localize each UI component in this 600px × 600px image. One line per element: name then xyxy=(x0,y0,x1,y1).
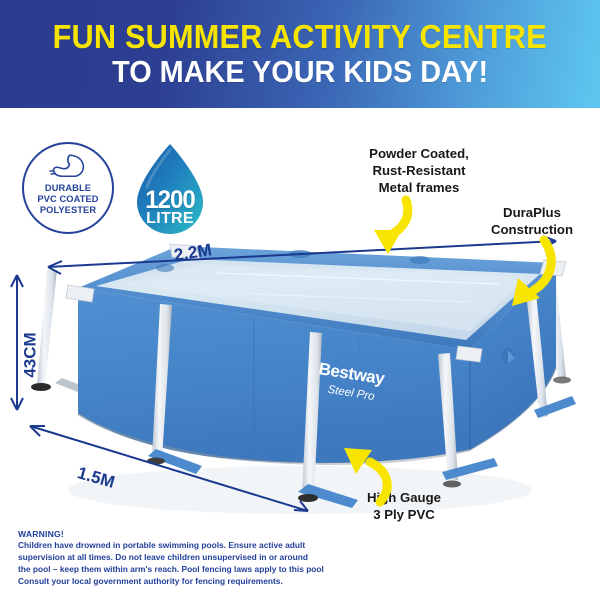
badge-durable-line-2: PVC COATED xyxy=(37,194,98,204)
warning-line-1: Children have drowned in portable swimmi… xyxy=(18,540,305,550)
warning-block: WARNING! Children have drowned in portab… xyxy=(18,529,348,588)
badge-durable-line-3: POLYESTER xyxy=(40,205,96,215)
warning-line-3: the pool – keep them within arm's reach.… xyxy=(18,564,324,574)
pool-valve-detail xyxy=(501,348,515,364)
warning-line-4: Consult your local government authority … xyxy=(18,576,283,586)
badge-durable-text: DURABLE PVC COATED POLYESTER xyxy=(37,183,98,216)
badge-capacity-litre: 1200 LITRE xyxy=(127,140,213,240)
badge-durable-line-1: DURABLE xyxy=(45,183,91,193)
curved-arrow-down-icon xyxy=(352,196,422,262)
page-title-line-2: TO MAKE YOUR KIDS DAY! xyxy=(112,56,488,89)
warning-heading: WARNING! xyxy=(18,529,348,539)
warning-body: Children have drowned in portable swimmi… xyxy=(18,540,348,588)
warning-line-2: supervision at all times. Do not leave c… xyxy=(18,552,308,562)
dimension-label-height: 43CM xyxy=(21,332,41,377)
callout-powder-line-2: Rust-Resistant xyxy=(372,163,465,178)
badge-durable-pvc: DURABLE PVC COATED POLYESTER xyxy=(22,142,114,234)
badge-capacity-unit: LITRE xyxy=(127,210,213,228)
callout-duraplus: DuraPlus Construction xyxy=(470,205,594,239)
callout-powder-coated: Powder Coated, Rust-Resistant Metal fram… xyxy=(334,146,504,197)
callout-powder-line-3: Metal frames xyxy=(379,180,460,195)
callout-dura-line-1: DuraPlus xyxy=(503,205,561,220)
callout-powder-line-1: Powder Coated, xyxy=(369,146,469,161)
page-title-line-1: FUN SUMMER ACTIVITY CENTRE xyxy=(53,20,547,54)
callout-gauge-line-2: 3 Ply PVC xyxy=(373,507,435,522)
callout-dura-line-2: Construction xyxy=(491,222,573,237)
flexing-bicep-icon xyxy=(47,153,89,180)
header-banner: FUN SUMMER ACTIVITY CENTRE TO MAKE YOUR … xyxy=(0,0,600,108)
curved-arrow-down-left-icon xyxy=(492,236,564,314)
curved-arrow-up-left-icon xyxy=(336,444,410,506)
